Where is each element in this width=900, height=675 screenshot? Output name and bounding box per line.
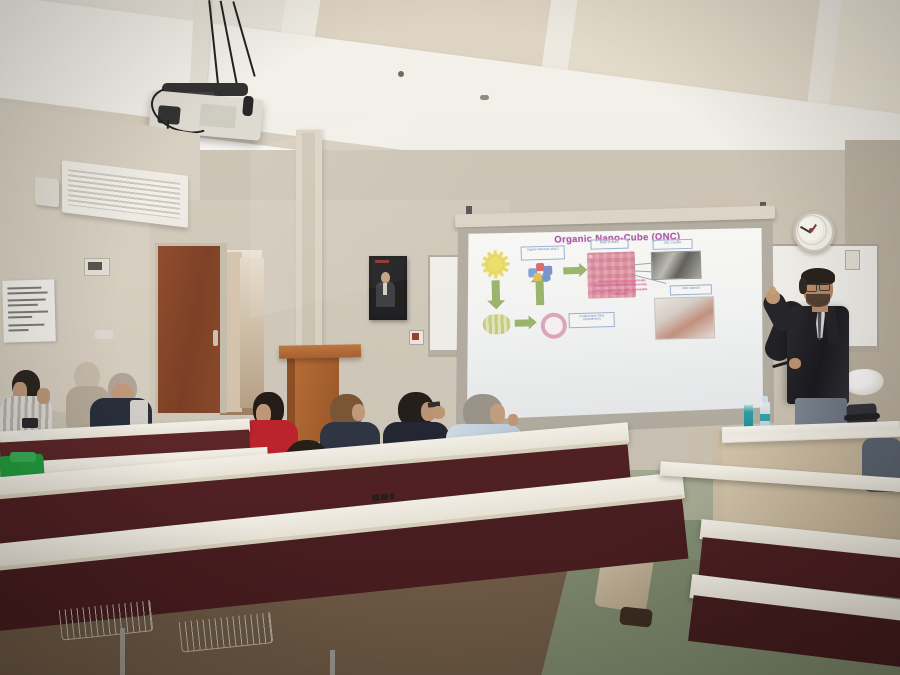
slide-label-organic-molecule: Organic Molecule (OMC) — [521, 245, 565, 260]
sun-ray-icon — [482, 268, 488, 273]
arrow-down-head-icon — [487, 300, 505, 309]
sun-ray-icon — [504, 262, 509, 265]
slide-label-condensation-ring: Condensation Ring (Cyclodextrin) — [568, 312, 614, 328]
arrow-down-icon — [492, 280, 501, 302]
presentation-slide: Organic Nano-Cube (ONC) Condensation Rin… — [472, 227, 758, 365]
papers-on-desk[interactable] — [18, 429, 47, 440]
shoe — [619, 606, 653, 627]
slide-label-onc-crystals: ONC Crystals — [652, 239, 692, 250]
water-bottle-label — [760, 414, 770, 421]
entrance-door[interactable] — [158, 246, 220, 413]
water-bottle-cap — [745, 400, 752, 405]
sun-ray-icon — [482, 256, 488, 261]
desk-leg — [330, 650, 335, 675]
desk-leg — [120, 628, 125, 675]
presenter-eyeglasses-lens-right — [819, 283, 830, 291]
sun-icon — [485, 254, 506, 275]
small-wall-frame — [845, 250, 860, 270]
portrait-plaque — [375, 260, 389, 263]
sun-ray-icon — [493, 250, 496, 255]
wall-outlet-inset — [88, 262, 102, 270]
door-handle[interactable] — [213, 330, 218, 346]
onc-crystals-micrograph — [651, 251, 702, 280]
portrait-figure-face — [381, 272, 390, 283]
hand-at-face — [37, 388, 50, 404]
notice-poster — [2, 279, 56, 342]
ceiling-fixture-dot — [480, 95, 489, 100]
sun-ray-icon — [502, 267, 508, 272]
presenter-beard — [806, 294, 830, 307]
face-profile — [352, 404, 365, 421]
corridor-beyond-door — [240, 258, 264, 408]
raised-hand — [432, 406, 445, 419]
arrow-right-head-icon — [529, 315, 537, 329]
sun-ray-icon — [494, 273, 497, 278]
arrow-up-icon — [536, 281, 545, 305]
sun-ray-icon — [498, 251, 503, 257]
sun-ray-icon — [486, 252, 491, 258]
presenter-eyeglasses-lens-left — [806, 284, 817, 292]
wall-speaker — [35, 177, 59, 208]
lectern-top[interactable] — [279, 344, 361, 358]
projector-knob[interactable] — [242, 96, 254, 117]
black-object-on-desk[interactable] — [22, 418, 38, 428]
organic-molecule-icon — [528, 263, 554, 282]
slide-highlight-text: ...biodegradable and economically manufa… — [592, 278, 650, 298]
sun-ray-icon — [502, 256, 508, 261]
slide-label-block-of-oncs: Block of ONCs — [590, 239, 628, 250]
onc-material-photo — [654, 296, 715, 340]
condensation-ring-icon — [540, 312, 567, 339]
lecture-hall-photo: Organic Nano-Cube (ONC) Condensation Rin… — [0, 0, 900, 675]
green-tote-bag-handle — [10, 452, 36, 462]
ceiling-fixture-dot — [398, 71, 404, 77]
column-pipe — [302, 133, 315, 363]
sun-ray-icon — [499, 271, 504, 277]
presenter-lower-hand — [789, 358, 801, 369]
slide-label-onc-material: ONC Material — [670, 284, 712, 295]
biomass-squiggle-icon — [482, 314, 511, 335]
sun-ray-icon — [487, 272, 492, 278]
light-switch-inset — [412, 333, 419, 340]
clock-center-pin — [809, 228, 813, 232]
water-bottle-cap — [762, 396, 768, 403]
portrait-figure-tie — [383, 283, 387, 295]
face-profile — [490, 404, 505, 424]
hand — [508, 414, 518, 426]
wall-outlet-small[interactable] — [95, 330, 113, 339]
sun-ray-icon — [481, 263, 486, 266]
